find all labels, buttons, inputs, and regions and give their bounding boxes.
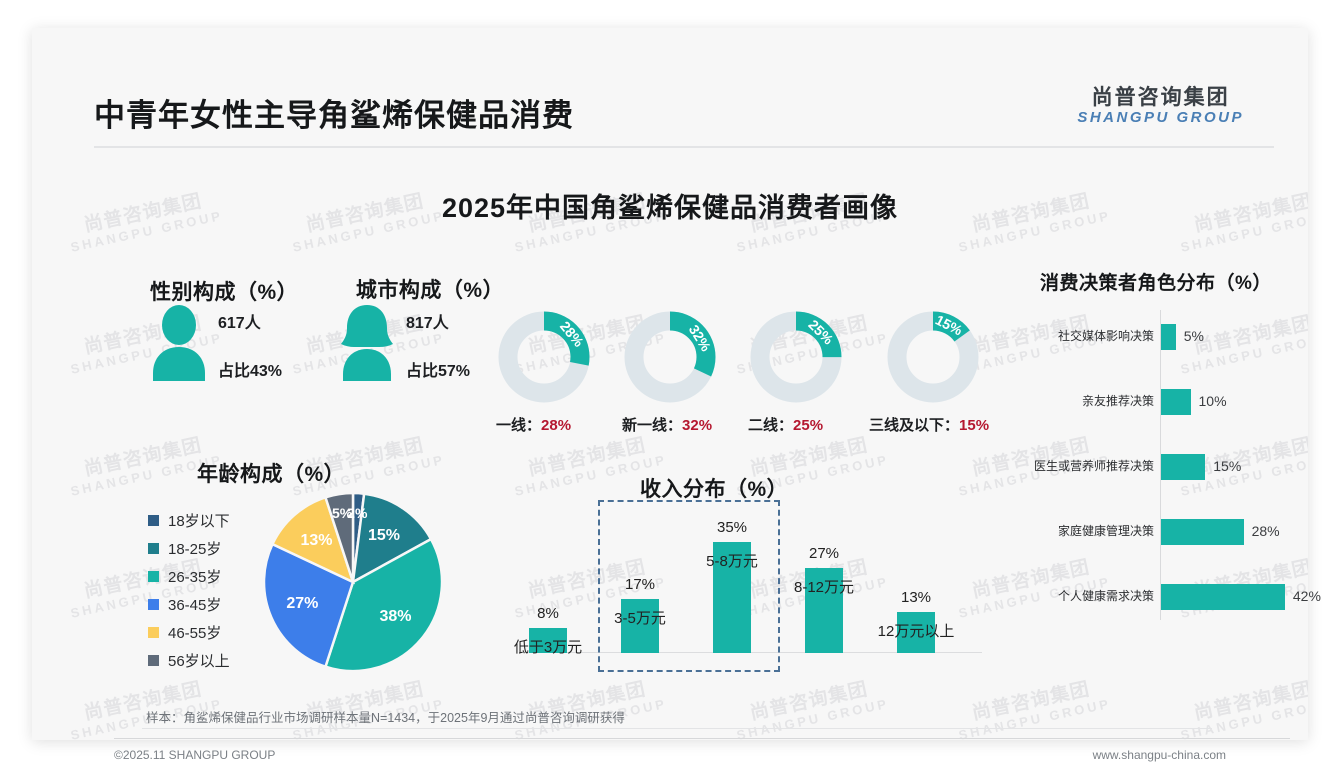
legend-swatch [148,543,159,554]
slide-card: 尚普咨询集团SHANGPU GROUP尚普咨询集团SHANGPU GROUP尚普… [32,28,1308,740]
age-legend: 18岁以下18-25岁26-35岁36-45岁46-55岁56岁以上 [148,506,230,674]
page-title: 中青年女性主导角鲨烯保健品消费 [94,90,574,135]
chart-main-title: 2025年中国角鲨烯保健品消费者画像 [32,186,1308,225]
role-row: 医生或营养师推荐决策15% [1022,454,1312,480]
legend-item: 26-35岁 [148,562,230,590]
city-caption: 三线及以下：15% [869,414,989,435]
legend-label: 56岁以上 [168,650,230,671]
company-logo: 尚普咨询集团 SHANGPU GROUP [1077,86,1244,127]
income-bar-group: 13%12万元以上 [890,612,942,653]
female-icon [338,303,396,381]
gender-text: 617人占比43% [218,309,282,381]
gender-item: 617人占比43% [150,303,310,393]
note-divider [142,728,1212,729]
pie-value-label: 13% [300,532,332,550]
legend-swatch [148,515,159,526]
income-bar-group: 27%8-12万元 [798,568,850,653]
city-donut: 15% [887,311,979,403]
age-pie-chart: 2%15%38%27%13%5% [264,493,442,671]
role-value-label: 28% [1252,523,1280,539]
legend-label: 46-55岁 [168,622,221,643]
pie-value-label: 5% [332,505,352,521]
pie-value-label: 15% [368,527,400,545]
watermark: 尚普咨询集团SHANGPU GROUP [953,675,1113,740]
city-donut: 32% [624,311,716,403]
legend-label: 18岁以下 [168,510,230,531]
pie-value-label: 38% [380,608,412,626]
role-row: 家庭健康管理决策28% [1022,519,1312,545]
legend-swatch [148,655,159,666]
legend-item: 18岁以下 [148,506,230,534]
age-section-title: 年龄构成（%） [197,458,345,488]
roles-section-title: 消费决策者角色分布（%） [1040,268,1272,295]
city-caption: 一线：28% [496,414,571,435]
logo-text-en: SHANGPU GROUP [1077,109,1244,127]
legend-label: 26-35岁 [168,566,221,587]
gender-count: 817人 [406,309,470,333]
gender-share: 占比43% [218,357,282,381]
footer-website[interactable]: www.shangpu-china.com [1093,748,1226,762]
role-value-label: 10% [1199,393,1227,409]
city-donut: 25% [750,311,842,403]
income-value-label: 8% [522,605,574,622]
role-row: 个人健康需求决策42% [1022,584,1312,610]
sample-note: 样本：角鲨烯保健品行业市场调研样本量N=1434，于2025年9月通过尚普咨询调… [146,707,625,726]
gender-count: 617人 [218,309,282,333]
income-bar-chart: 8%低于3万元17%3-5万元35%5-8万元27%8-12万元13%12万元以… [512,508,982,683]
gender-item: 817人占比57% [338,303,498,393]
footer-copyright: ©2025.11 SHANGPU GROUP [114,748,275,762]
gender-text: 817人占比57% [406,309,470,381]
role-value-label: 15% [1213,458,1241,474]
role-label: 亲友推荐决策 [1082,392,1154,409]
role-bar [1161,324,1176,350]
income-value-label: 27% [798,545,850,562]
income-category-label: 低于3万元 [502,636,594,657]
legend-item: 36-45岁 [148,590,230,618]
legend-label: 18-25岁 [168,538,221,559]
income-category-label: 12万元以上 [870,620,962,641]
legend-swatch [148,571,159,582]
legend-swatch [148,599,159,610]
city-donut: 28% [498,311,590,403]
legend-label: 36-45岁 [168,594,221,615]
role-label: 个人健康需求决策 [1058,587,1154,604]
city-caption: 新一线：32% [622,414,712,435]
watermark: 尚普咨询集团SHANGPU GROUP [1175,675,1308,740]
income-highlight-box [598,500,780,672]
role-bar [1161,584,1285,610]
gender-chart: 617人占比43%817人占比57% [150,303,480,393]
legend-item: 18-25岁 [148,534,230,562]
logo-text-cn: 尚普咨询集团 [1077,86,1244,109]
role-bar [1161,389,1191,415]
role-value-label: 42% [1293,588,1321,604]
male-icon [150,303,208,381]
legend-item: 46-55岁 [148,618,230,646]
role-bar [1161,519,1244,545]
role-label: 社交媒体影响决策 [1058,327,1154,344]
income-value-label: 13% [890,589,942,606]
role-label: 医生或营养师推荐决策 [1034,457,1154,474]
watermark: 尚普咨询集团SHANGPU GROUP [731,675,891,740]
footer-divider [114,738,1290,739]
legend-item: 56岁以上 [148,646,230,674]
income-category-label: 8-12万元 [778,576,870,597]
role-row: 社交媒体影响决策5% [1022,324,1312,350]
pie-value-label: 27% [286,595,318,613]
role-label: 家庭健康管理决策 [1058,522,1154,539]
role-value-label: 5% [1184,328,1204,344]
infographic-canvas: 尚普咨询集团SHANGPU GROUP尚普咨询集团SHANGPU GROUP尚普… [0,0,1340,780]
roles-bar-chart: 社交媒体影响决策5%亲友推荐决策10%医生或营养师推荐决策15%家庭健康管理决策… [1022,310,1312,630]
role-row: 亲友推荐决策10% [1022,389,1312,415]
income-bar-group: 8%低于3万元 [522,628,574,653]
role-bar [1161,454,1205,480]
legend-swatch [148,627,159,638]
income-section-title: 收入分布（%） [640,473,788,503]
gender-share: 占比57% [406,357,470,381]
header-divider [94,146,1274,148]
city-caption: 二线：25% [748,414,823,435]
city-section-title: 城市构成（%） [0,274,1068,304]
